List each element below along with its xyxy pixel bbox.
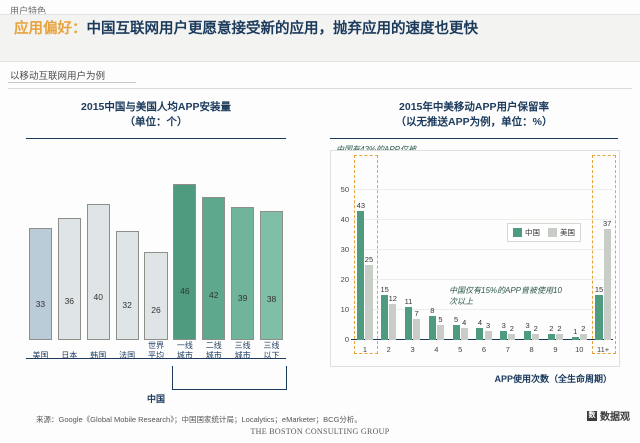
page-title-highlight: 应用偏好：	[14, 21, 87, 37]
legend-item-china: 中国	[513, 227, 540, 238]
left-bar-value: 32	[116, 300, 139, 310]
right-bar-china	[548, 334, 555, 340]
left-bar-value: 39	[231, 293, 254, 303]
right-bar-china	[572, 337, 579, 340]
left-china-group-tick-start	[172, 366, 173, 390]
right-x-tick: 2	[379, 345, 399, 354]
watermark-mark: 数	[587, 411, 597, 421]
left-bar	[87, 204, 110, 340]
right-bar-chart: 0102030405043251151221173854545436327328…	[331, 151, 619, 366]
left-bar	[29, 228, 52, 340]
right-x-tick: 8	[522, 345, 542, 354]
right-x-tick: 7	[498, 345, 518, 354]
watermark: 数 数据观	[587, 408, 630, 423]
right-gridline	[351, 249, 613, 250]
left-bar-value: 26	[144, 305, 167, 315]
left-title-rule	[26, 138, 286, 139]
right-bar-us	[556, 334, 563, 340]
left-bar-value: 42	[202, 290, 225, 300]
right-bar-us	[413, 319, 420, 340]
right-y-tick: 20	[333, 275, 349, 284]
legend-label-china: 中国	[525, 227, 540, 238]
left-bar-value: 36	[58, 296, 81, 306]
right-bar-us	[508, 334, 515, 340]
left-chart-title-line1: 2015中国与美国人均APP安装量	[26, 100, 286, 115]
left-axis-line	[26, 358, 286, 359]
right-x-tick: 6	[474, 345, 494, 354]
left-bar	[144, 252, 167, 340]
right-bar-us	[532, 334, 539, 340]
right-chart-legend: 中国 美国	[507, 223, 581, 242]
right-x-axis-title: APP使用次数（全生命周期）	[330, 372, 618, 385]
right-x-tick: 10	[569, 345, 589, 354]
right-chart-title-line2: （以无推送APP为例，单位：%）	[330, 115, 618, 130]
right-x-tick: 5	[450, 345, 470, 354]
right-bar-value: 2	[528, 324, 544, 333]
left-china-group-rule	[172, 389, 286, 390]
slide-root: 用户特色 应用偏好：中国互联网用户更愿意接受新的应用，抛弃应用的速度也更快 以移…	[0, 0, 640, 443]
right-x-tick: 4	[426, 345, 446, 354]
highlight-box	[592, 155, 616, 354]
right-bar-us	[485, 331, 492, 340]
right-bar-china	[453, 325, 460, 340]
legend-label-us: 美国	[560, 227, 575, 238]
right-bar-value: 3	[480, 321, 496, 330]
right-y-tick: 10	[333, 305, 349, 314]
right-y-tick: 50	[333, 185, 349, 194]
right-bar-value: 2	[575, 324, 591, 333]
right-bar-value: 7	[409, 309, 425, 318]
legend-swatch-us	[548, 228, 557, 237]
left-bar-value: 33	[29, 299, 52, 309]
right-x-tick: 9	[545, 345, 565, 354]
right-y-tick: 40	[333, 215, 349, 224]
right-bar-value: 8	[424, 306, 440, 315]
source-note: 来源：Google《Global Mobile Research》；中国国家统计…	[36, 414, 362, 425]
left-chart-title-line2: （单位：个）	[26, 115, 286, 130]
highlight-box	[354, 155, 378, 354]
left-bar-value: 40	[87, 292, 110, 302]
right-gridline	[351, 189, 613, 190]
right-x-tick: 3	[403, 345, 423, 354]
note-mid: 中国仅有15%的APP曾被使用10次以上	[449, 285, 569, 307]
right-bar-value: 5	[432, 315, 448, 324]
legend-swatch-china	[513, 228, 522, 237]
header-rule	[8, 88, 632, 89]
right-bar-us	[461, 328, 468, 340]
right-gridline	[351, 279, 613, 280]
right-title-rule	[330, 138, 618, 139]
left-axis-caption: 中国	[26, 392, 286, 405]
page-title-rest: 中国互联网用户更愿意接受新的应用，抛弃应用的速度也更快	[87, 21, 479, 37]
left-bar-chart: 33美国36日本40韩国32法国26世界平均46一线城市42二线城市39三线城市…	[26, 160, 286, 360]
legend-item-us: 美国	[548, 227, 575, 238]
subtitle-rule	[8, 82, 136, 83]
left-bar	[202, 197, 225, 340]
left-bar-value: 38	[260, 294, 283, 304]
right-bar-value: 4	[456, 318, 472, 327]
page-title: 应用偏好：中国互联网用户更愿意接受新的应用，抛弃应用的速度也更快	[14, 18, 626, 40]
right-chart-frame: 0102030405043251151221173854545436327328…	[330, 150, 620, 367]
right-bar-value: 12	[385, 294, 401, 303]
left-bar	[173, 184, 196, 340]
right-y-tick: 0	[333, 335, 349, 344]
left-chart-title: 2015中国与美国人均APP安装量 （单位：个）	[26, 100, 286, 130]
watermark-text: 数据观	[600, 408, 630, 423]
right-bar-value: 11	[400, 297, 416, 306]
right-bar-value: 2	[552, 324, 568, 333]
left-bar	[260, 211, 283, 340]
right-bar-value: 15	[377, 285, 393, 294]
left-bar	[116, 231, 139, 340]
left-china-group-tick-end	[286, 366, 287, 390]
left-bar	[231, 207, 254, 340]
right-gridline	[351, 219, 613, 220]
right-chart-title-line1: 2015年中美移动APP用户保留率	[330, 100, 618, 115]
bcg-logo-text: THE BOSTON CONSULTING GROUP	[0, 427, 640, 436]
left-bar	[58, 218, 81, 340]
right-bar-value: 2	[504, 324, 520, 333]
right-y-tick: 30	[333, 245, 349, 254]
right-bar-us	[580, 334, 587, 340]
right-bar-us	[389, 304, 396, 340]
right-chart-title: 2015年中美移动APP用户保留率 （以无推送APP为例，单位：%）	[330, 100, 618, 130]
right-bar-us	[437, 325, 444, 340]
left-bar-value: 46	[173, 286, 196, 296]
